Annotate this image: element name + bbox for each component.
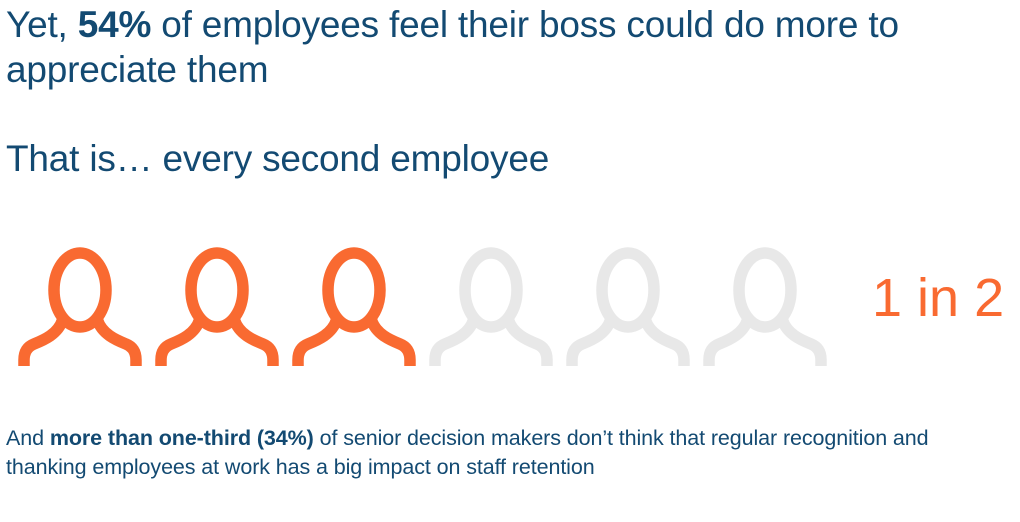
- person-icon-5-empty: [566, 244, 690, 366]
- person-icon-2-filled: [155, 244, 279, 366]
- ratio-label: 1 in 2: [872, 268, 1004, 328]
- footnote-paragraph: And more than one-third (34%) of senior …: [6, 424, 1014, 482]
- footnote-text-before: And: [6, 426, 50, 450]
- person-icon-6-empty: [703, 244, 827, 366]
- headline: Yet, 54% of employees feel their boss co…: [6, 2, 1006, 92]
- person-icon-1-filled: [18, 244, 142, 366]
- headline-text-before: Yet,: [6, 4, 78, 45]
- pictogram-people-row: [0, 244, 1020, 369]
- person-icon-3-filled: [292, 244, 416, 366]
- headline-highlight-54-percent: 54%: [78, 4, 151, 45]
- subheadline: That is… every second employee: [6, 136, 1006, 181]
- footnote-highlight-one-third: more than one-third (34%): [50, 426, 314, 450]
- person-icon-4-empty: [429, 244, 553, 366]
